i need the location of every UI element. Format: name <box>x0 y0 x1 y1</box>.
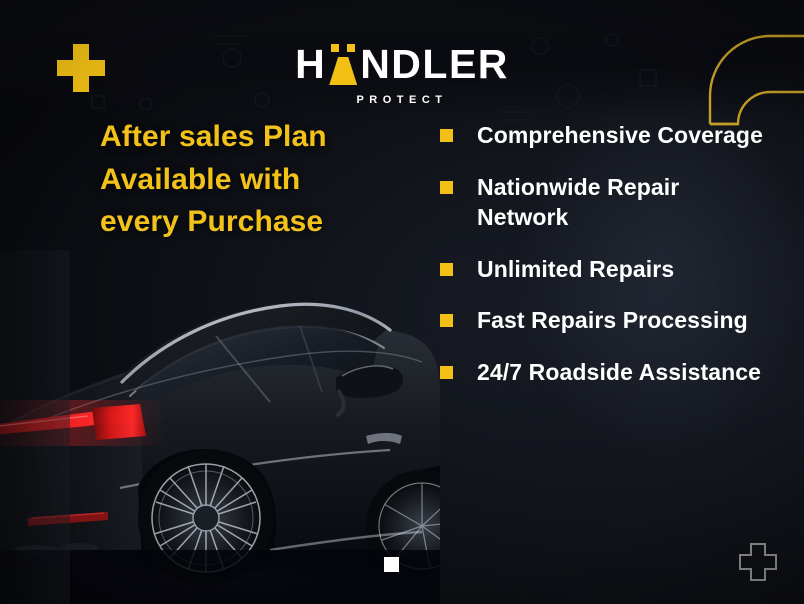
feature-label: 24/7 Roadside Assistance <box>477 357 761 388</box>
list-item: 24/7 Roadside Assistance <box>440 357 770 388</box>
feature-label: Unlimited Repairs <box>477 254 674 285</box>
feature-list: Comprehensive Coverage Nationwide Repair… <box>440 120 770 387</box>
promo-banner: H NDLER PROTECT After sales Plan Availab… <box>0 0 804 604</box>
bullet-square-icon <box>440 366 453 379</box>
brand-wordmark: H NDLER <box>295 44 509 85</box>
headline-line-1: After sales Plan <box>100 116 410 159</box>
headline-line-2: Available with <box>100 159 410 202</box>
list-item: Comprehensive Coverage <box>440 120 770 151</box>
bullet-square-icon <box>440 314 453 327</box>
brand-name-part2: NDLER <box>360 44 509 85</box>
feature-label: Comprehensive Coverage <box>477 120 763 151</box>
bullet-square-icon <box>440 129 453 142</box>
list-item: Unlimited Repairs <box>440 254 770 285</box>
brand-logo: H NDLER PROTECT <box>0 44 804 106</box>
headline-line-3: every Purchase <box>100 201 410 244</box>
bullet-square-icon <box>440 181 453 194</box>
square-marker-icon <box>384 557 399 572</box>
car-image <box>0 250 440 604</box>
feature-label: Fast Repairs Processing <box>477 305 748 336</box>
page-title: After sales Plan Available with every Pu… <box>100 116 410 244</box>
bullet-square-icon <box>440 263 453 276</box>
brand-name-part1: H <box>295 44 326 85</box>
brand-tagline: PROTECT <box>0 94 804 106</box>
brand-a-accent-icon <box>327 44 359 85</box>
list-item: Nationwide Repair Network <box>440 172 770 233</box>
plus-icon-outline <box>738 542 778 582</box>
feature-label: Nationwide Repair Network <box>477 172 770 233</box>
list-item: Fast Repairs Processing <box>440 305 770 336</box>
